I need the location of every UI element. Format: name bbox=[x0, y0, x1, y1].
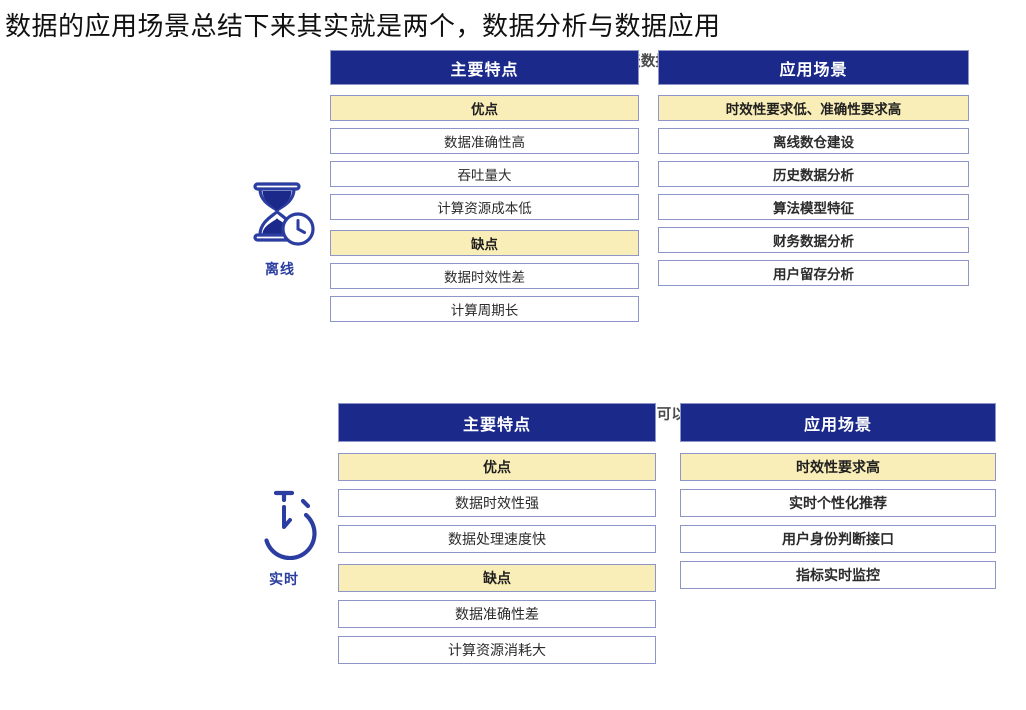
feature-item: 计算资源成本低 bbox=[330, 194, 639, 220]
feature-item: 计算资源消耗大 bbox=[338, 636, 656, 664]
column-scenarios: 应用场景 时效性要求低、准确性要求高 离线数仓建设 历史数据分析 算法模型特征 … bbox=[658, 50, 969, 286]
scenario-item: 算法模型特征 bbox=[658, 194, 969, 220]
scenario-item: 用户留存分析 bbox=[658, 260, 969, 286]
column-scenarios: 应用场景 时效性要求高 实时个性化推荐 用户身份判断接口 指标实时监控 bbox=[680, 403, 996, 589]
feature-item: 数据准确性差 bbox=[338, 600, 656, 628]
mode-label-realtime: 实时 bbox=[236, 569, 332, 589]
hourglass-clock-icon bbox=[232, 178, 328, 255]
feature-item: 数据准确性高 bbox=[330, 128, 639, 154]
mode-label-offline: 离线 bbox=[232, 259, 328, 279]
column-header-features: 主要特点 bbox=[338, 403, 656, 442]
feature-group-subhead: 优点 bbox=[330, 95, 639, 121]
scenario-subhead: 时效性要求低、准确性要求高 bbox=[658, 95, 969, 121]
scenario-subhead: 时效性要求高 bbox=[680, 453, 996, 481]
scenario-item: 财务数据分析 bbox=[658, 227, 969, 253]
feature-group-subhead: 优点 bbox=[338, 453, 656, 481]
feature-item: 数据时效性强 bbox=[338, 489, 656, 517]
mode-badge-offline: 离线 bbox=[232, 178, 328, 279]
feature-group-subhead: 缺点 bbox=[330, 230, 639, 256]
page-title: 数据的应用场景总结下来其实就是两个，数据分析与数据应用 bbox=[5, 6, 721, 43]
scenario-item: 指标实时监控 bbox=[680, 561, 996, 589]
column-features: 主要特点 优点 数据时效性强 数据处理速度快 缺点 数据准确性差 计算资源消耗大 bbox=[338, 403, 656, 664]
column-header-scenarios: 应用场景 bbox=[680, 403, 996, 442]
feature-item: 吞吐量大 bbox=[330, 161, 639, 187]
scenario-item: 离线数仓建设 bbox=[658, 128, 969, 154]
column-header-scenarios: 应用场景 bbox=[658, 50, 969, 85]
column-features: 主要特点 优点 数据准确性高 吞吐量大 计算资源成本低 缺点 数据时效性差 计算… bbox=[330, 50, 639, 322]
scenario-item: 用户身份判断接口 bbox=[680, 525, 996, 553]
stopwatch-icon bbox=[236, 488, 332, 565]
feature-item: 计算周期长 bbox=[330, 296, 639, 322]
feature-item: 数据处理速度快 bbox=[338, 525, 656, 553]
column-header-features: 主要特点 bbox=[330, 50, 639, 85]
scenario-item: 实时个性化推荐 bbox=[680, 489, 996, 517]
slide-canvas: 数据的应用场景总结下来其实就是两个，数据分析与数据应用 T-1，即当前日期的前一… bbox=[0, 0, 1026, 710]
scenario-item: 历史数据分析 bbox=[658, 161, 969, 187]
mode-badge-realtime: 实时 bbox=[236, 488, 332, 589]
feature-item: 数据时效性差 bbox=[330, 263, 639, 289]
feature-group-subhead: 缺点 bbox=[338, 564, 656, 592]
